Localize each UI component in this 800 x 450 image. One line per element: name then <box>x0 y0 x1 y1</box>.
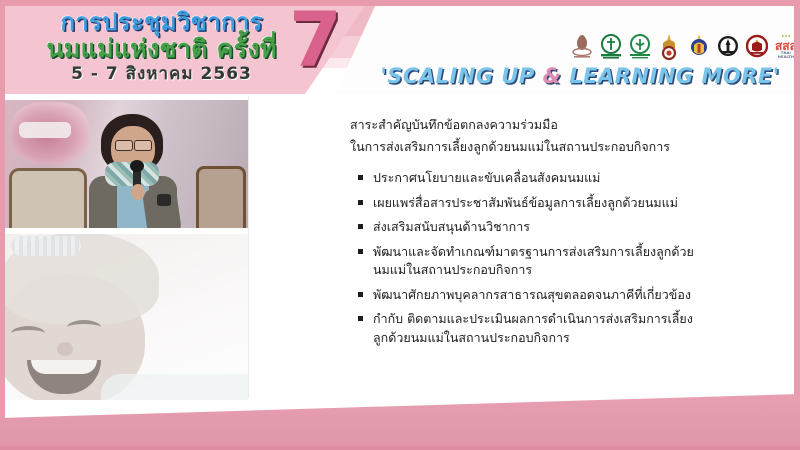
list-item: เผยแพร่สื่อสารประชาสัมพันธ์ข้อมูลการเลี้… <box>358 194 705 213</box>
tagline-part-suffix: LEARNING MORE' <box>561 64 779 88</box>
content-heading-line-2: ในการส่งเสริมการเลี้ยงลูกด้วยนมแม่ในสถาน… <box>350 136 786 158</box>
tagline-ampersand: & <box>543 64 562 88</box>
child-photo <box>5 234 248 400</box>
content-heading-line-1: สาระสำคัญบันทึกข้อตกลงความร่วมมือ <box>350 114 786 136</box>
logo-royal-seal-icon <box>570 32 594 62</box>
logo-black-circle-emblem-icon <box>716 32 740 62</box>
chair-left <box>9 168 87 228</box>
column-divider <box>248 96 249 398</box>
logo-ministry-public-health-icon <box>599 32 623 62</box>
speaker-hand <box>131 184 145 200</box>
logo-red-shield-emblem-icon <box>745 32 769 62</box>
list-item: ส่งเสริมสนับสนุนด้านวิชาการ <box>358 218 705 237</box>
conference-title-block: การประชุมวิชาการ นมแม่แห่งชาติ ครั้งที่ … <box>19 10 304 83</box>
tagline-part-prefix: 'SCALING UP <box>380 64 542 88</box>
presentation-slide: การประชุมวิชาการ นมแม่แห่งชาติ ครั้งที่ … <box>0 0 800 450</box>
content-bullet-list: ประกาศนโยบายและขับเคลื่อนสังคมนมแม่ เผยแ… <box>358 169 786 347</box>
speaker-glasses-right <box>134 140 152 151</box>
list-item: กำกับ ติดตามและประเมินผลการดำเนินการส่งเ… <box>358 310 705 347</box>
sponsor-logo-row: ••• สสส THAI HEALTH <box>570 30 794 64</box>
presenter-clicker <box>157 194 171 206</box>
sss-sublabel: THAI HEALTH <box>774 52 794 59</box>
backdrop-teeth-graphic <box>19 122 71 138</box>
list-item: พัฒนาศักยภาพบุคลากรสาธารณสุขตลอดจนภาคีที… <box>358 286 705 305</box>
microphone-head <box>130 160 144 172</box>
slide-frame-right <box>794 0 800 450</box>
logo-garuda-emblem-icon <box>687 32 711 62</box>
child-nose <box>57 342 73 356</box>
conference-title-line1: การประชุมวิชาการ <box>19 10 304 34</box>
conference-edition-number: 7 <box>289 6 342 78</box>
chair-right <box>196 166 246 228</box>
conference-tagline: 'SCALING UP & LEARNING MORE' <box>365 64 794 88</box>
child-eye-right <box>67 320 101 335</box>
child-shirt <box>101 374 248 400</box>
logo-royal-crown-emblem-icon <box>657 32 681 62</box>
list-item: ประกาศนโยบายและขับเคลื่อนสังคมนมแม่ <box>358 169 705 188</box>
logo-health-dept-icon <box>628 32 652 62</box>
list-item: พัฒนาและจัดทำเกณฑ์มาตรฐานการส่งเสริมการเ… <box>358 243 705 280</box>
speaker-arm <box>142 186 182 228</box>
child-eye-left <box>11 326 45 341</box>
logo-thaihealth-sss-icon: ••• สสส THAI HEALTH <box>774 32 794 62</box>
slide-frame-bottom <box>0 446 800 450</box>
media-column <box>5 94 248 400</box>
content-heading: สาระสำคัญบันทึกข้อตกลงความร่วมมือ ในการส… <box>350 114 786 157</box>
conference-date: 5 - 7 สิงหาคม 2563 <box>19 66 304 83</box>
child-teeth <box>31 360 97 374</box>
speaker-photo <box>5 100 248 228</box>
slide-content: สาระสำคัญบันทึกข้อตกลงความร่วมมือ ในการส… <box>258 96 786 396</box>
speaker-glasses-left <box>115 140 133 151</box>
child-hat-band <box>11 236 81 256</box>
conference-title-line2: นมแม่แห่งชาติ ครั้งที่ <box>19 36 304 61</box>
slide-header-banner: การประชุมวิชาการ นมแม่แห่งชาติ ครั้งที่ … <box>5 6 794 94</box>
